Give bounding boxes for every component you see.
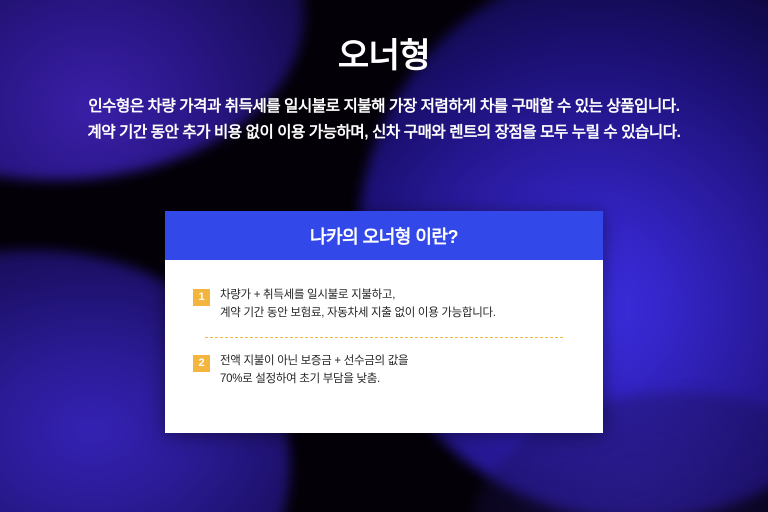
info-card-title: 나카의 오너형 이란? [310, 223, 458, 249]
hero-subtitle: 인수형은 차량 가격과 취득세를 일시불로 지불해 가장 저렴하게 차를 구매할… [0, 78, 768, 146]
list-item-text-line-1: 전액 지불이 아닌 보증금 + 선수금의 값을 [220, 352, 408, 370]
list-item: 1 차량가 + 취득세를 일시불로 지불하고, 계약 기간 동안 보험료, 자동… [193, 286, 575, 322]
promo-slide: 오너형 인수형은 차량 가격과 취득세를 일시불로 지불해 가장 저렴하게 차를… [0, 0, 768, 512]
hero-subtitle-line-2: 계약 기간 동안 추가 비용 없이 이용 가능하며, 신차 구매와 렌트의 장점… [0, 120, 768, 146]
info-card: 나카의 오너형 이란? 1 차량가 + 취득세를 일시불로 지불하고, 계약 기… [165, 211, 603, 433]
hero-section: 오너형 인수형은 차량 가격과 취득세를 일시불로 지불해 가장 저렴하게 차를… [0, 0, 768, 146]
list-item-text: 차량가 + 취득세를 일시불로 지불하고, 계약 기간 동안 보험료, 자동차세… [220, 286, 496, 322]
list-item-number-badge: 2 [193, 355, 210, 372]
list-item-text: 전액 지불이 아닌 보증금 + 선수금의 값을 70%로 설정하여 초기 부담을… [220, 352, 408, 388]
info-card-header: 나카의 오너형 이란? [165, 211, 603, 260]
list-item: 2 전액 지불이 아닌 보증금 + 선수금의 값을 70%로 설정하여 초기 부… [193, 352, 575, 388]
list-item-text-line-2: 계약 기간 동안 보험료, 자동차세 지출 없이 이용 가능합니다. [220, 304, 496, 322]
page-title: 오너형 [0, 0, 768, 78]
dashed-divider [205, 337, 563, 338]
hero-subtitle-line-1: 인수형은 차량 가격과 취득세를 일시불로 지불해 가장 저렴하게 차를 구매할… [0, 94, 768, 120]
list-item-text-line-1: 차량가 + 취득세를 일시불로 지불하고, [220, 286, 496, 304]
info-card-body: 1 차량가 + 취득세를 일시불로 지불하고, 계약 기간 동안 보험료, 자동… [165, 260, 603, 433]
list-item-text-line-2: 70%로 설정하여 초기 부담을 낮춤. [220, 370, 408, 388]
list-item-number-badge: 1 [193, 289, 210, 306]
